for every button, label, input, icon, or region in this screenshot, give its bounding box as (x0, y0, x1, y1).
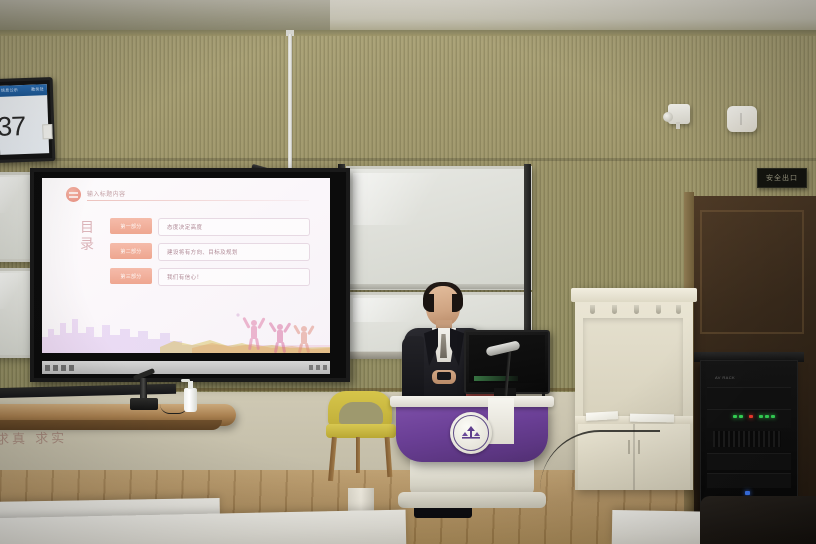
wall-upper-ribbing (0, 34, 816, 160)
cabinet-top-rail (571, 288, 697, 302)
foreground-dark-object (700, 496, 816, 544)
wall-information-monitor[interactable]: 信息公示 教务处 37 (0, 77, 55, 163)
left-whiteboard-upper (0, 172, 34, 262)
slide-toc-rows: 第一部分 态度决定高度 第二部分 建设将有方向、目标及规划 第三部分 我们有信心… (110, 218, 310, 293)
rack-led-green (739, 415, 743, 418)
classroom-scene: 信息公示 教务处 37 输入标题内容 目录 (0, 0, 816, 544)
camera-mount-arm (676, 122, 680, 129)
whiteboard-glare (353, 173, 473, 225)
podium-skirt (410, 460, 534, 496)
chair-leg (356, 437, 360, 473)
toc-row: 第三部分 我们有信心！ (110, 268, 310, 285)
rack-vent-panel (713, 431, 781, 447)
hand-sanitizer-bottle[interactable] (184, 388, 197, 412)
projection-screen[interactable]: 输入标题内容 目录 第一部分 态度决定高度 第二部分 建设将有方向、目标及规划 … (30, 168, 350, 382)
rack-unit (707, 409, 791, 428)
university-emblem (450, 412, 492, 454)
powerpoint-slide: 输入标题内容 目录 第一部分 态度决定高度 第二部分 建设将有方向、目标及规划 … (42, 178, 330, 353)
toc-row: 第一部分 态度决定高度 (110, 218, 310, 235)
podium-base (398, 492, 546, 508)
podium-center-plate (488, 398, 514, 444)
skyline-svg (42, 307, 330, 353)
rack-unit (707, 473, 791, 488)
door-panel (700, 210, 804, 334)
windows-taskbar[interactable] (42, 361, 330, 374)
rack-led-blue (745, 491, 750, 495)
slide-skyline-artwork (42, 307, 330, 353)
monitor-titlebar-left: 信息公示 (1, 87, 18, 94)
wifi-access-point-icon (727, 106, 757, 132)
coat-hook (656, 305, 661, 314)
camera-pole (288, 34, 292, 186)
presenter-hair-left (423, 294, 434, 312)
taskbar-tray[interactable] (309, 365, 327, 370)
rack-brand-text: AV RACK (715, 375, 735, 380)
slide-header-rule (87, 200, 309, 201)
left-whiteboard-lower (0, 268, 34, 358)
slide-vertical-title: 目录 (76, 220, 98, 254)
taskbar-icons[interactable] (45, 365, 74, 371)
coat-hook (634, 305, 639, 314)
coat-hook (612, 305, 617, 314)
exit-sign: 安全出口 (757, 168, 807, 188)
toc-row: 第二部分 建设将有方向、目标及规划 (110, 243, 310, 260)
slide-badge-icon (66, 187, 81, 202)
exit-sign-text: 安全出口 (766, 173, 798, 183)
microphone-base (130, 398, 158, 410)
coat-hook (590, 305, 595, 314)
toc-tag: 第三部分 (110, 268, 152, 284)
rack-led-red (749, 415, 753, 418)
monitor-titlebar: 信息公示 教务处 (0, 84, 47, 97)
whiteboard-glare (0, 177, 27, 213)
monitor-screen: 信息公示 教务处 37 (0, 84, 49, 155)
toc-tag: 第一部分 (110, 218, 152, 234)
monitor-titlebar-right: 教务处 (31, 86, 44, 92)
coat-hook (676, 305, 681, 314)
cabinet-recess (583, 318, 683, 416)
slide-header-text: 输入标题内容 (87, 189, 125, 198)
toc-text: 建设将有方向、目标及规划 (158, 243, 310, 261)
whiteboard-right-edge (524, 164, 531, 354)
rack-led-green (765, 415, 769, 418)
main-whiteboard (346, 166, 532, 290)
toc-tag: 第二部分 (110, 243, 152, 259)
ceiling-shadow (0, 0, 330, 30)
ceiling-edge-trim (0, 30, 816, 36)
wall-panel-seam-top (0, 158, 816, 161)
rack-led-green (759, 415, 763, 418)
rack-led-green (733, 415, 737, 418)
podium-monitor-indicator (474, 376, 518, 381)
paper-sheet (630, 414, 674, 423)
podium-worktop (390, 396, 554, 407)
chair-back-opening (339, 402, 383, 424)
paper-sheet (586, 411, 618, 421)
wall-calligraphy: 求真 求实 (0, 427, 67, 447)
whiteboard-glare (0, 273, 27, 309)
monitor-number: 37 (0, 111, 26, 143)
monitor-side-tab (42, 124, 53, 139)
emblem-mark-icon (460, 425, 482, 441)
rack-led-green (771, 415, 775, 418)
camera-lens-icon (663, 112, 673, 122)
rack-unit (707, 387, 791, 408)
chair-seat[interactable] (326, 424, 396, 438)
rack-unit (707, 453, 791, 470)
toc-text: 态度决定高度 (158, 218, 310, 236)
toc-text: 我们有信心！ (158, 268, 310, 286)
presenter-handheld-device (437, 372, 451, 380)
